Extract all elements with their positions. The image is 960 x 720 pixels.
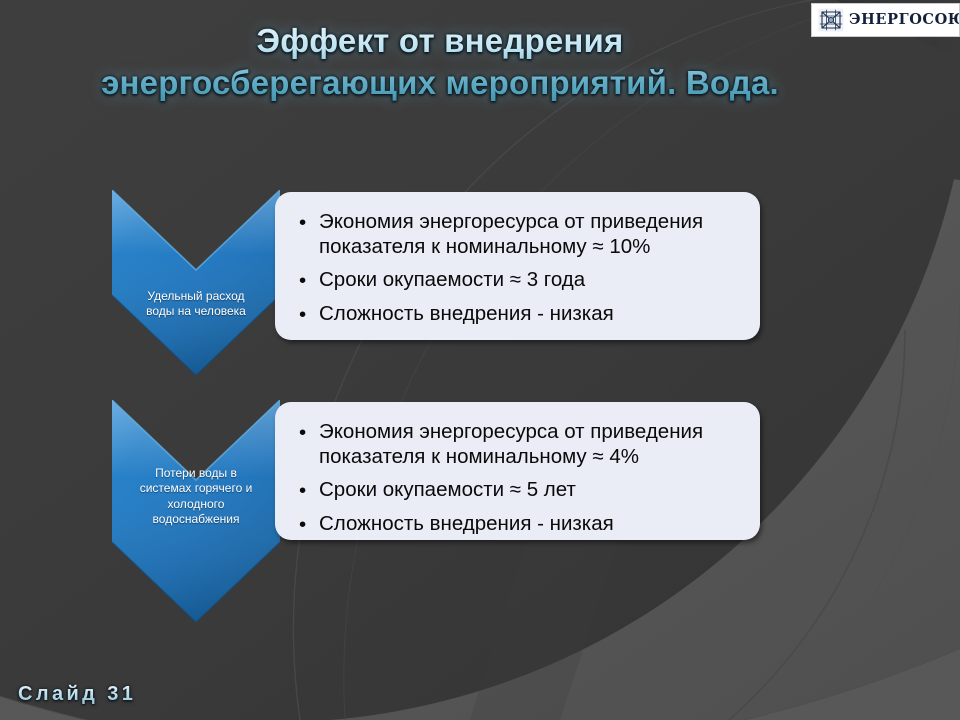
company-logo: ЭНЕРГОСОЮЗ: [811, 3, 960, 37]
bullet-text: Сроки окупаемости ≈ 3 года: [319, 268, 585, 291]
callout-box-1: • Экономия энергоресурса от приведения п…: [275, 192, 760, 340]
bullet-glyph: •: [299, 479, 306, 504]
bullet-text: Сложность внедрения - низкая: [319, 302, 614, 325]
list-item: • Сроки окупаемости ≈ 3 года: [297, 268, 740, 293]
bullet-text: Экономия энергоресурса от приведения пок…: [319, 210, 703, 258]
slide-canvas: ЭНЕРГОСОЮЗ Эффект от внедрения энергосбе…: [0, 0, 960, 720]
bullet-text: Сложность внедрения - низкая: [319, 512, 614, 535]
callout-box-2: • Экономия энергоресурса от приведения п…: [275, 402, 760, 540]
bullet-text: Сроки окупаемости ≈ 5 лет: [319, 478, 576, 501]
list-item: • Сложность внедрения - низкая: [297, 512, 740, 537]
content-row-1: Удельный расход воды на человека • Эконо…: [112, 190, 760, 375]
chevron-shape-1: [112, 190, 280, 375]
list-item: • Экономия энергоресурса от приведения п…: [297, 420, 740, 469]
content-row-2: Потери воды в системах горячего и холодн…: [112, 400, 760, 622]
bullet-glyph: •: [299, 421, 306, 446]
list-item: • Сроки окупаемости ≈ 5 лет: [297, 478, 740, 503]
bullet-glyph: •: [299, 211, 306, 236]
bullet-glyph: •: [299, 269, 306, 294]
bullet-text: Экономия энергоресурса от приведения пок…: [319, 420, 703, 468]
bullet-list-1: • Экономия энергоресурса от приведения п…: [297, 210, 740, 326]
logo-text: ЭНЕРГОСОЮЗ: [849, 13, 960, 28]
bullet-list-2: • Экономия энергоресурса от приведения п…: [297, 420, 740, 536]
chevron-shape-2: [112, 400, 280, 622]
energosoyuz-emblem-icon: [818, 8, 844, 32]
bullet-glyph: •: [299, 513, 306, 538]
list-item: • Сложность внедрения - низкая: [297, 302, 740, 327]
list-item: • Экономия энергоресурса от приведения п…: [297, 210, 740, 259]
bullet-glyph: •: [299, 303, 306, 328]
